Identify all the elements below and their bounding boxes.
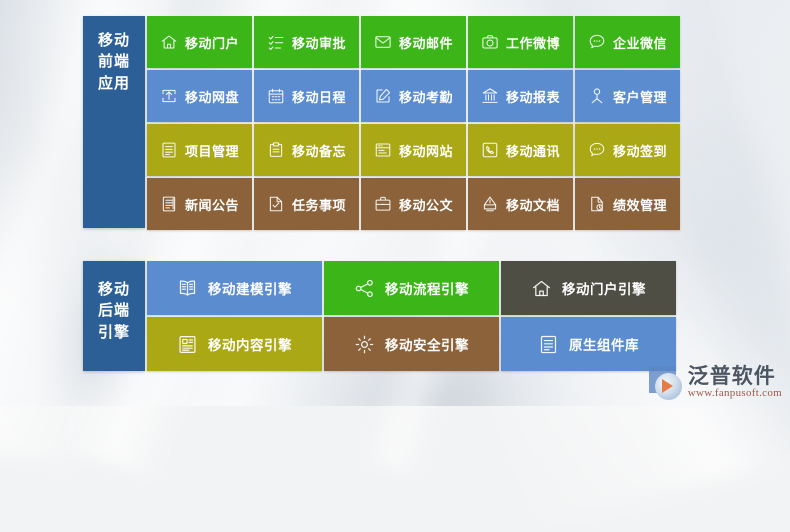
tile-label: 移动日程: [292, 87, 346, 106]
app-tile[interactable]: 移动邮件: [361, 16, 466, 68]
engine-tile[interactable]: 移动门户引擎: [501, 261, 676, 315]
app-tile[interactable]: 任务事项: [254, 178, 359, 230]
home-icon: [160, 33, 178, 51]
tile-label: 工作微博: [506, 33, 560, 52]
app-tile[interactable]: 移动审批: [254, 16, 359, 68]
checklist-icon: [267, 33, 285, 51]
app-tile[interactable]: 工作微博: [468, 16, 573, 68]
home-icon: [531, 278, 552, 299]
backend-group-label: 移动后端引擎: [83, 261, 145, 371]
engine-tile[interactable]: 原生组件库: [501, 317, 676, 371]
app-tile[interactable]: 企业微信: [575, 16, 680, 68]
app-tile[interactable]: 移动日程: [254, 70, 359, 122]
content-page-icon: [177, 334, 198, 355]
tile-label: 任务事项: [292, 195, 346, 214]
mobile-backend-engines-section: 移动后端引擎 移动建模引擎移动流程引擎移动门户引擎移动内容引擎移动安全引擎原生组…: [83, 261, 676, 371]
engine-tile[interactable]: 移动建模引擎: [147, 261, 322, 315]
tile-label: 移动邮件: [399, 33, 453, 52]
document-lines-icon: [538, 334, 559, 355]
app-tile[interactable]: 移动网盘: [147, 70, 252, 122]
tile-label: 移动审批: [292, 33, 346, 52]
app-tile[interactable]: 移动文档: [468, 178, 573, 230]
tile-label: 移动通讯: [506, 141, 560, 160]
calendar-icon: [267, 87, 285, 105]
phone-icon: [481, 141, 499, 159]
watermark-brand: 泛普软件: [688, 366, 782, 388]
tile-label: 新闻公告: [185, 195, 239, 214]
watermark: 泛普软件 www.fanpusoft.com: [649, 366, 782, 400]
app-tile[interactable]: 绩效管理: [575, 178, 680, 230]
app-tile[interactable]: 移动门户: [147, 16, 252, 68]
app-tile[interactable]: 移动网站: [361, 124, 466, 176]
fanpu-logo-icon: [649, 366, 683, 400]
upload-box-icon: [160, 87, 178, 105]
frontend-label-line: 应用: [98, 73, 130, 94]
file-clock-icon: [588, 195, 606, 213]
document-lines-icon: [160, 141, 178, 159]
tile-label: 原生组件库: [569, 334, 639, 354]
backend-label-line: 移动: [98, 279, 130, 300]
browser-window-icon: [374, 141, 392, 159]
frontend-tile-grid: 移动门户移动审批移动邮件工作微博企业微信移动网盘移动日程移动考勤移动报表客户管理…: [147, 16, 680, 230]
frontend-label-line: 前端: [98, 51, 130, 72]
tile-label: 企业微信: [613, 33, 667, 52]
chat-bubble-icon: [588, 33, 606, 51]
tile-label: 绩效管理: [613, 195, 667, 214]
open-book-icon: [177, 278, 198, 299]
tile-label: 移动建模引擎: [208, 278, 292, 298]
tile-label: 项目管理: [185, 141, 239, 160]
tile-label: 移动安全引擎: [385, 334, 469, 354]
bar-chart-icon: [481, 87, 499, 105]
person-icon: [588, 87, 606, 105]
chat-bubble-icon: [588, 141, 606, 159]
engine-tile[interactable]: 移动流程引擎: [324, 261, 499, 315]
pencil-square-icon: [374, 87, 392, 105]
app-tile[interactable]: 移动公文: [361, 178, 466, 230]
tile-label: 移动文档: [506, 195, 560, 214]
file-doc-icon: [481, 195, 499, 213]
app-tile[interactable]: 移动备忘: [254, 124, 359, 176]
tile-label: 移动门户: [185, 33, 239, 52]
tile-label: 移动网站: [399, 141, 453, 160]
frontend-label-line: 移动: [98, 30, 130, 51]
app-tile[interactable]: 移动报表: [468, 70, 573, 122]
app-tile[interactable]: 新闻公告: [147, 178, 252, 230]
tile-label: 移动考勤: [399, 87, 453, 106]
tile-label: 移动内容引擎: [208, 334, 292, 354]
briefcase-icon: [374, 195, 392, 213]
watermark-url: www.fanpusoft.com: [688, 388, 782, 400]
tile-label: 移动报表: [506, 87, 560, 106]
gear-icon: [354, 334, 375, 355]
tile-label: 移动备忘: [292, 141, 346, 160]
mobile-frontend-applications-section: 移动前端应用 移动门户移动审批移动邮件工作微博企业微信移动网盘移动日程移动考勤移…: [83, 16, 680, 230]
app-tile[interactable]: 项目管理: [147, 124, 252, 176]
share-nodes-icon: [354, 278, 375, 299]
camera-icon: [481, 33, 499, 51]
app-tile[interactable]: 客户管理: [575, 70, 680, 122]
backend-label-line: 后端: [98, 300, 130, 321]
task-check-icon: [267, 195, 285, 213]
backend-tile-grid: 移动建模引擎移动流程引擎移动门户引擎移动内容引擎移动安全引擎原生组件库: [147, 261, 676, 371]
clipboard-icon: [267, 141, 285, 159]
tile-label: 移动门户引擎: [562, 278, 646, 298]
tile-label: 客户管理: [613, 87, 667, 106]
backend-label-line: 引擎: [98, 322, 130, 343]
frontend-group-label: 移动前端应用: [83, 16, 145, 228]
tile-label: 移动公文: [399, 195, 453, 214]
envelope-icon: [374, 33, 392, 51]
app-tile[interactable]: 移动考勤: [361, 70, 466, 122]
engine-tile[interactable]: 移动内容引擎: [147, 317, 322, 371]
tile-label: 移动网盘: [185, 87, 239, 106]
news-document-icon: [160, 195, 178, 213]
app-tile[interactable]: 移动签到: [575, 124, 680, 176]
app-tile[interactable]: 移动通讯: [468, 124, 573, 176]
engine-tile[interactable]: 移动安全引擎: [324, 317, 499, 371]
tile-label: 移动签到: [613, 141, 667, 160]
tile-label: 移动流程引擎: [385, 278, 469, 298]
